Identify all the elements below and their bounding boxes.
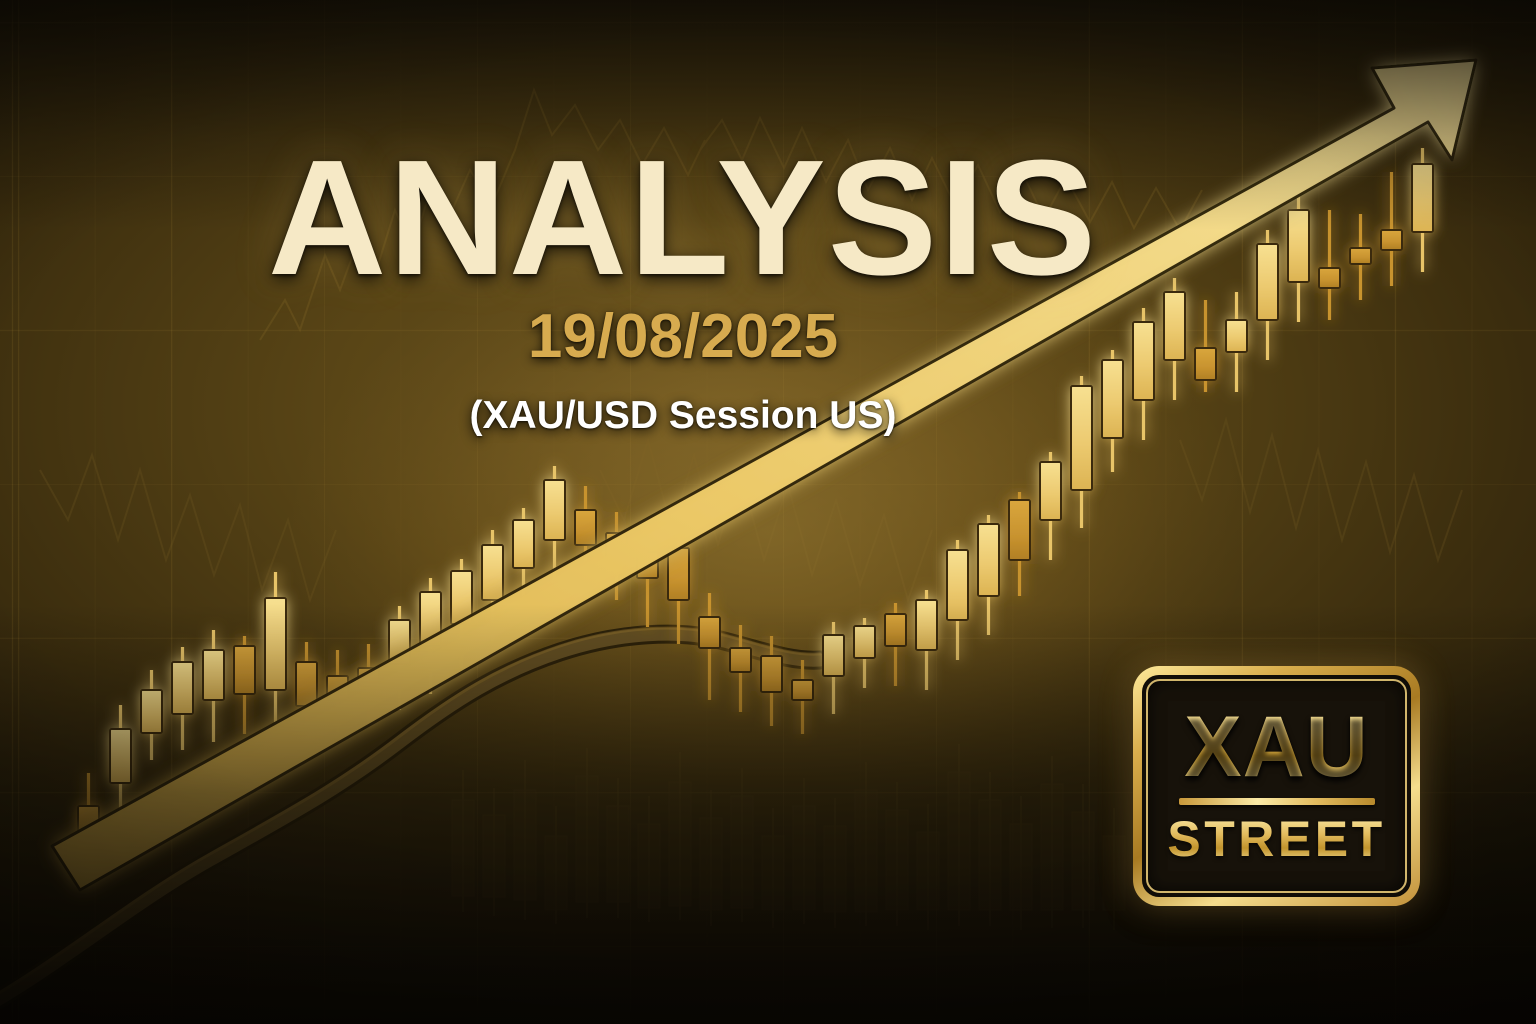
xau-street-logo[interactable]: XAU STREET xyxy=(1133,666,1420,906)
analysis-date: 19/08/2025 xyxy=(0,306,1536,368)
logo-content: XAU STREET xyxy=(1133,666,1420,906)
analysis-banner: ANALYSIS 19/08/2025 (XAU/USD Session US)… xyxy=(0,0,1536,1024)
page-title: ANALYSIS xyxy=(0,136,1536,300)
logo-text-street: STREET xyxy=(1167,814,1385,864)
logo-text-xau: XAU xyxy=(1184,708,1369,787)
headline-block: ANALYSIS 19/08/2025 (XAU/USD Session US) xyxy=(0,0,1536,480)
logo-divider xyxy=(1179,798,1375,805)
pair-session-subtitle: (XAU/USD Session US) xyxy=(0,396,1536,435)
